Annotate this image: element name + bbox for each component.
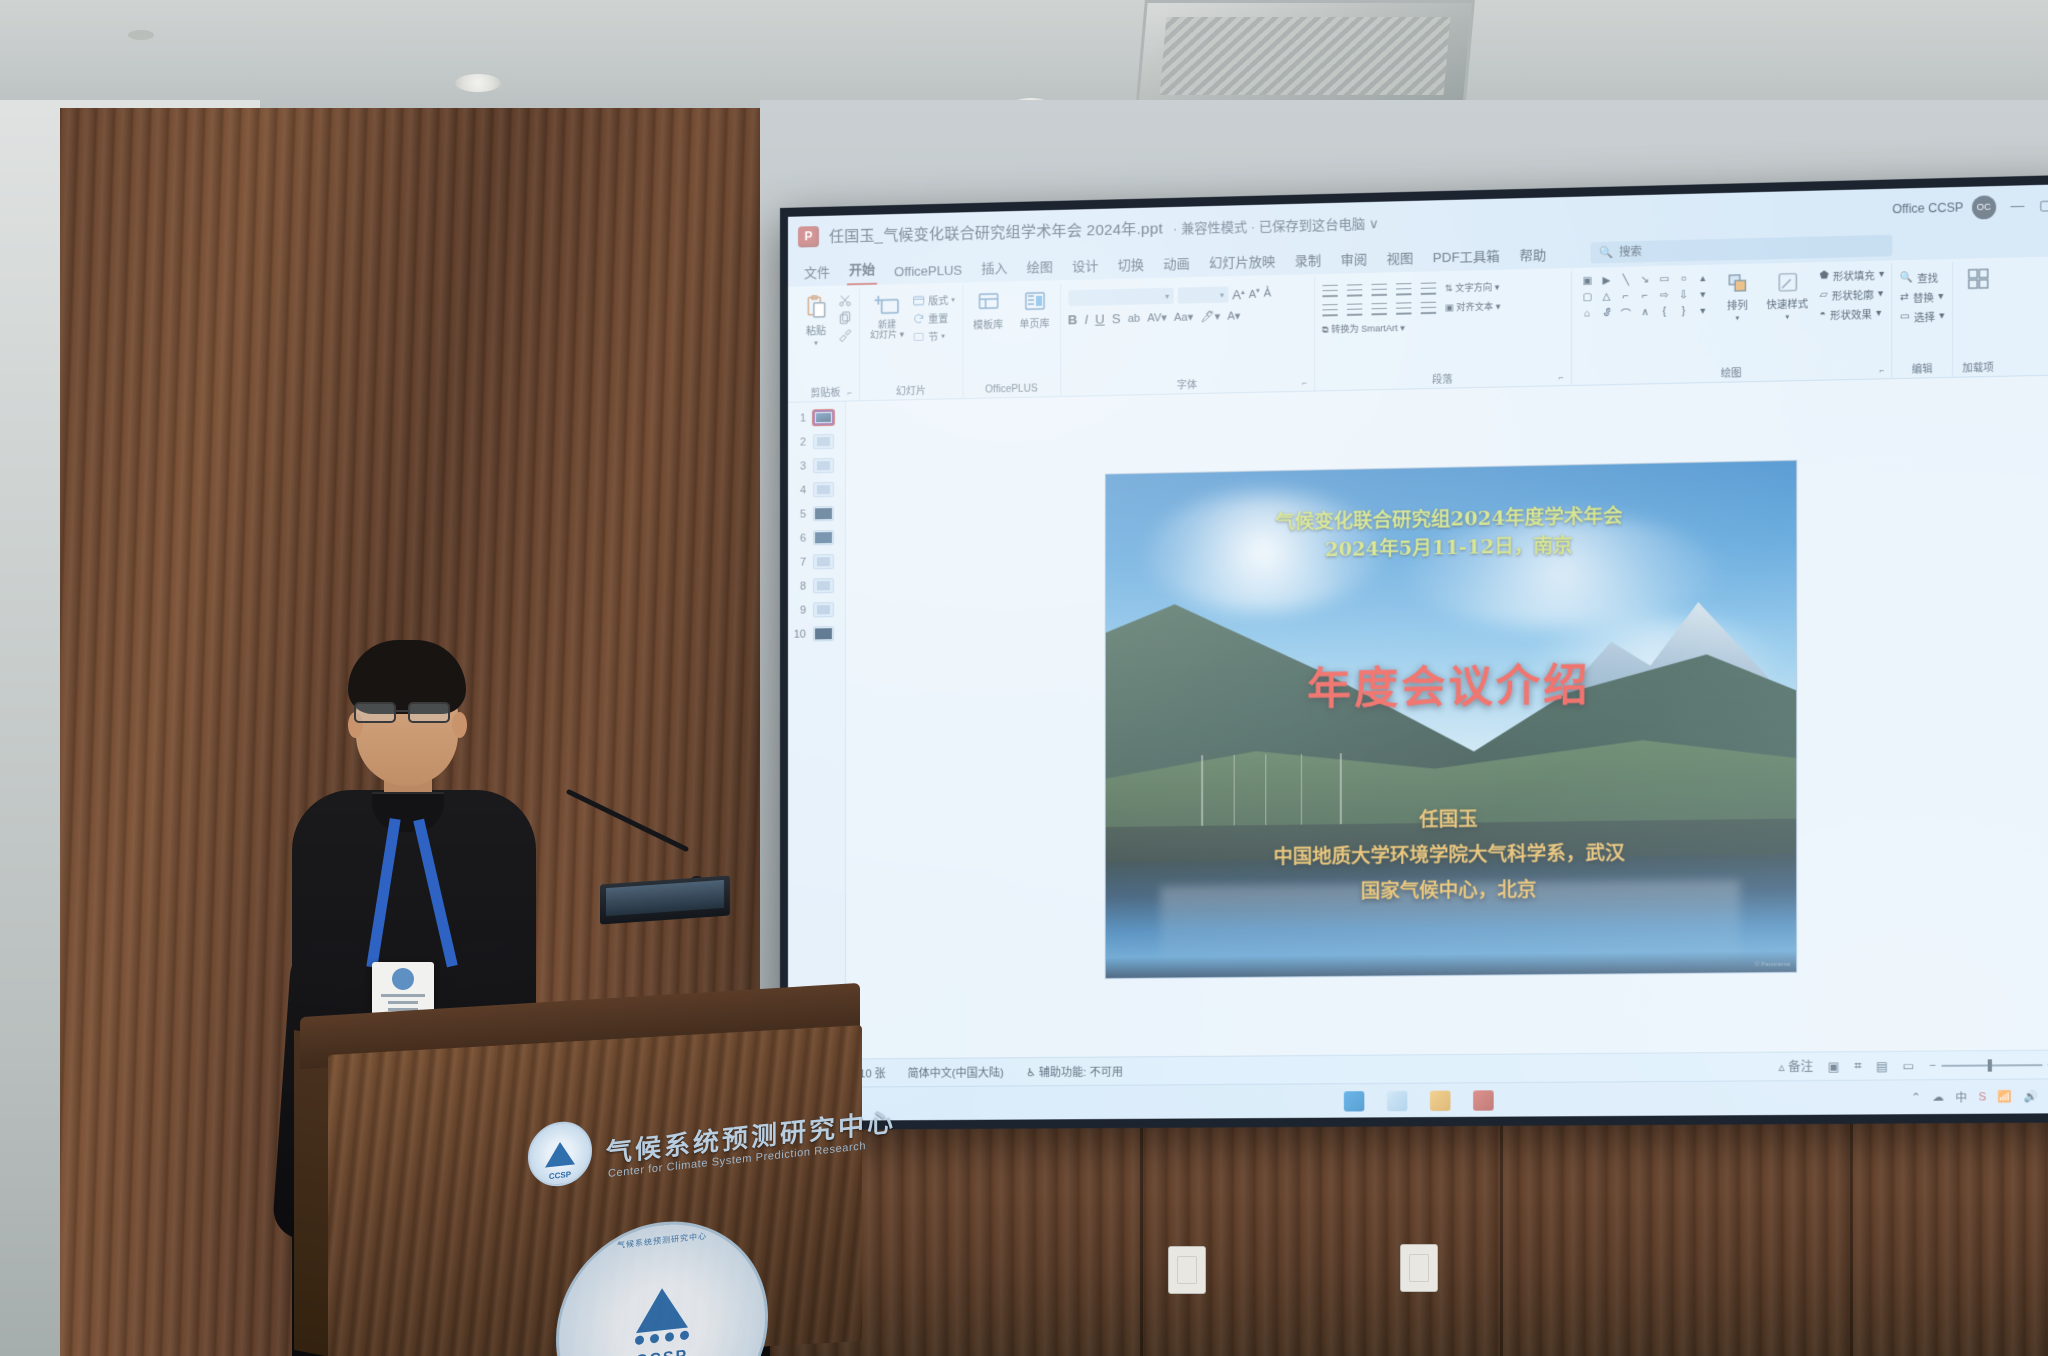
zoom-slider[interactable]: − +: [1929, 1058, 2048, 1071]
text-direction-button[interactable]: ⇅ 文字方向 ▾: [1445, 280, 1500, 294]
character-spacing-button[interactable]: AV▾: [1147, 311, 1167, 325]
increase-font-size-button[interactable]: A▴: [1232, 286, 1244, 301]
shape-outline-icon: ▱: [1820, 290, 1828, 301]
slide-sorter-icon[interactable]: ⌗: [1854, 1058, 1861, 1073]
format-painter-icon[interactable]: [838, 327, 852, 341]
columns-icon[interactable]: [1420, 301, 1435, 314]
line-spacing-icon[interactable]: [1420, 282, 1435, 295]
section-label: 节: [928, 328, 938, 343]
dialog-launcher-icon[interactable]: ⌐: [1558, 373, 1563, 382]
status-bar-right[interactable]: ▵ 备注 ▣ ⌗ ▤ ▭ − +: [1778, 1056, 2048, 1075]
ribbon-group-paragraph: ⇅ 文字方向 ▾ ▣ 对齐文本 ▾ ⧉ 转换为: [1315, 271, 1572, 390]
change-case-button[interactable]: Aa▾: [1174, 310, 1193, 324]
decrease-indent-icon[interactable]: [1371, 283, 1386, 296]
ceiling-light: [455, 74, 501, 92]
logo-triangle: [636, 1285, 688, 1333]
projection-screen: P 任国玉_气候变化联合研究组学术年会 2024年.ppt · 兼容性模式 · …: [788, 184, 2048, 1121]
slide-thumbnail-3[interactable]: 3: [788, 458, 845, 474]
accessibility-icon: ♿: [1026, 1067, 1036, 1079]
slide-thumbnail-7[interactable]: 7: [788, 554, 845, 570]
projection-screen-frame: P 任国玉_气候变化联合研究组学术年会 2024年.ppt · 兼容性模式 · …: [780, 175, 2048, 1130]
font-name-input[interactable]: ▾: [1068, 288, 1173, 307]
slide-author-block[interactable]: 任国玉 中国地质大学环境学院大气科学系，武汉 国家气候中心，北京: [1106, 798, 1796, 913]
podium-front-panel: CCSP 气候系统预测研究中心 Center for Climate Syste…: [328, 1025, 862, 1356]
replace-button[interactable]: ⇄替换▾: [1900, 289, 1945, 305]
slide-thumbnail-1[interactable]: 1: [788, 410, 845, 426]
logo-acronym: CCSP: [636, 1347, 688, 1356]
thumbnail-preview[interactable]: [813, 554, 834, 569]
shape-line-icon[interactable]: ╲: [1617, 273, 1634, 288]
document-save-state[interactable]: · 兼容性模式 · 已保存到这台电脑 ∨: [1173, 212, 1379, 236]
thumbnail-preview[interactable]: [813, 602, 834, 617]
shape-chevron-icon[interactable]: ∧: [1636, 305, 1653, 320]
layout-icon: [912, 294, 925, 306]
shape-arrow-icon[interactable]: ↘: [1636, 272, 1653, 287]
thumbnail-preview[interactable]: [813, 410, 834, 425]
slide-thumbnail-2[interactable]: 2: [788, 434, 845, 450]
template-library-label: 模板库: [973, 316, 1003, 332]
slide-thumbnail-8[interactable]: 8: [788, 578, 845, 594]
shape-textbox-icon[interactable]: ▣: [1579, 274, 1596, 289]
clear-formatting-icon[interactable]: A͛: [1264, 287, 1271, 299]
slide-thumbnail-5[interactable]: 5: [788, 506, 845, 522]
text-highlight-icon[interactable]: 🖊▾: [1200, 310, 1220, 324]
paste-button[interactable]: 粘贴 ▾: [799, 292, 833, 350]
align-right-icon[interactable]: [1371, 302, 1386, 315]
chevron-down-icon[interactable]: ▾: [941, 332, 945, 340]
dialog-launcher-icon[interactable]: ⌐: [847, 388, 852, 397]
paste-icon: [803, 294, 829, 321]
zoom-thumb[interactable]: [1987, 1059, 1991, 1071]
slide-thumbnail-4[interactable]: 4: [788, 482, 845, 498]
layout-label: 版式: [928, 292, 948, 308]
glasses-lens-right: [408, 702, 450, 723]
search-icon: 🔍: [1900, 272, 1913, 284]
logo-triangle-group: [635, 1285, 689, 1345]
ccsp-logo-large: 气候系统预测研究中心 CCSP: [556, 1211, 768, 1356]
slide-thumbnail-panel[interactable]: 1 2 3 4: [788, 402, 846, 1059]
thumbnail-number: 2: [793, 436, 806, 448]
align-text-button[interactable]: ▣ 对齐文本 ▾: [1445, 299, 1501, 313]
laptop-screen: [606, 880, 724, 916]
presenter-glasses: [352, 702, 464, 724]
dialog-launcher-icon[interactable]: ⌐: [1879, 366, 1884, 375]
ribbon-group-slides: 新建幻灯片 ▾ 版式 ▾: [860, 286, 963, 401]
search-icon: 🔍: [1599, 245, 1613, 259]
addins-button[interactable]: [1960, 264, 1996, 294]
account-area[interactable]: Office CCSP OC — ▢: [1892, 193, 2048, 221]
editing-commands[interactable]: 🔍查找 ⇄替换▾ ▭选择▾: [1900, 265, 1945, 324]
ime-icon[interactable]: 中: [1955, 1089, 1967, 1105]
new-slide-button[interactable]: 新建幻灯片 ▾: [867, 290, 907, 343]
restore-button[interactable]: ▢: [2039, 197, 2048, 214]
ceiling-air-vent: [1135, 0, 1475, 112]
shape-brace-right-icon[interactable]: }: [1675, 304, 1692, 319]
tab-view[interactable]: 视图: [1385, 245, 1416, 272]
wifi-icon[interactable]: 📶: [1998, 1090, 2012, 1103]
slideshow-icon[interactable]: ▭: [1903, 1058, 1915, 1072]
tab-officeplus[interactable]: OfficePLUS: [892, 261, 964, 285]
thumbnail-number: 6: [793, 532, 806, 544]
quick-styles-button[interactable]: 快速样式 ▾: [1763, 268, 1811, 323]
file-explorer-icon[interactable]: [1387, 1090, 1408, 1110]
windows-start-icon[interactable]: [1344, 1091, 1364, 1111]
template-library-icon: [975, 290, 1001, 315]
quick-styles-label: 快速样式: [1767, 295, 1809, 311]
smoke-detector: [128, 30, 154, 40]
shape-fill-button[interactable]: ⬟形状填充▾: [1820, 267, 1885, 284]
ribbon-group-addins: 加载项: [1953, 261, 2003, 377]
thumbnail-preview[interactable]: [813, 578, 834, 593]
shape-rect-icon[interactable]: ▭: [1656, 272, 1673, 287]
slide-thumbnail-6[interactable]: 6: [788, 530, 845, 546]
thumbnail-number: 9: [793, 604, 806, 616]
section-button[interactable]: 节 ▾: [912, 328, 955, 344]
copy-icon[interactable]: [838, 310, 852, 324]
shape-gallery-expand-icon[interactable]: ▾: [1694, 303, 1711, 318]
section-icon: [912, 330, 925, 342]
shape-ellipse-icon[interactable]: ○: [1675, 271, 1692, 286]
ribbon-group-font: ▾ ▾ A▴ A▾ A͛ B I U S ab: [1061, 277, 1315, 396]
tab-record[interactable]: 录制: [1293, 248, 1324, 275]
tab-file[interactable]: 文件: [802, 260, 832, 287]
chevron-down-icon[interactable]: ▾: [1786, 313, 1790, 321]
thumbnail-number: 8: [793, 580, 806, 592]
ribbon-group-drawing: ▣ ▶ ╲ ↘ ▭ ○ ▴ ▢ △ ⌐ ⌐ ⇨: [1572, 263, 1893, 385]
shape-effects-button[interactable]: ◓形状效果▾: [1820, 306, 1885, 323]
numbered-list-icon[interactable]: [1346, 284, 1361, 297]
badge-text-line: [381, 994, 425, 997]
select-button[interactable]: ▭选择▾: [1900, 308, 1945, 324]
sogou-icon[interactable]: S: [1978, 1091, 1986, 1103]
group-label-officeplus: OfficePLUS: [970, 381, 1053, 396]
logo-dots: [635, 1330, 689, 1345]
group-label-clipboard: 剪贴板⌐: [799, 381, 852, 399]
shape-arrowbox-icon[interactable]: ▶: [1598, 273, 1615, 288]
vent-grill: [1160, 17, 1451, 95]
cloud-icon[interactable]: ☁: [1932, 1090, 1944, 1103]
slide-thumbnail-9[interactable]: 9: [788, 602, 845, 618]
shape-brace-left-icon[interactable]: {: [1656, 304, 1673, 319]
zoom-track[interactable]: [1941, 1064, 2042, 1067]
slide-photo-credit: © Panorama: [1755, 962, 1790, 968]
logo-acronym: CCSP: [549, 1170, 571, 1181]
workspace: 1 2 3 4: [788, 375, 2048, 1059]
powerpoint-icon: P: [798, 226, 819, 248]
arrange-label: 排列: [1727, 296, 1748, 312]
ccsp-logo-small: CCSP: [528, 1118, 592, 1189]
align-center-icon[interactable]: [1346, 303, 1361, 316]
zoom-out-button[interactable]: −: [1929, 1059, 1936, 1071]
conference-room-scene: P 任国玉_气候变化联合研究组学术年会 2024年.ppt · 兼容性模式 · …: [0, 0, 2048, 1356]
new-slide-label: 新建幻灯片 ▾: [870, 320, 904, 341]
tab-insert[interactable]: 插入: [979, 255, 1009, 282]
account-name: Office CCSP: [1892, 200, 1963, 216]
chevron-down-icon[interactable]: ▾: [1736, 314, 1740, 322]
tab-transitions[interactable]: 切换: [1116, 252, 1146, 279]
wall-socket: [1400, 1244, 1438, 1292]
minimize-button[interactable]: —: [2011, 198, 2025, 215]
shape-curve-icon[interactable]: ⌐: [1636, 288, 1653, 303]
page-library-label: 单页库: [1019, 315, 1049, 331]
paste-label: 粘贴: [806, 322, 826, 337]
thumbnail-preview[interactable]: [813, 458, 834, 473]
new-slide-icon: [873, 292, 901, 319]
template-library-button[interactable]: 模板库: [970, 288, 1006, 334]
thumbnail-preview[interactable]: [813, 434, 834, 449]
wall-panel-seam: [1140, 1120, 1143, 1356]
reset-icon: [912, 312, 925, 324]
badge-logo: [392, 968, 414, 990]
justify-icon[interactable]: [1396, 302, 1411, 315]
thumbnail-preview[interactable]: [813, 626, 834, 641]
search-placeholder: 搜索: [1619, 243, 1642, 260]
folder-icon[interactable]: [1430, 1090, 1451, 1110]
shape-flowchart-icon[interactable]: ⌂: [1579, 306, 1596, 321]
thumbnail-number: 5: [793, 508, 806, 520]
italic-button[interactable]: I: [1084, 312, 1088, 327]
glasses-bridge: [396, 710, 408, 712]
windows-taskbar[interactable]: ⌃ ☁ 中 S 📶 🔊 ▮: [788, 1078, 2048, 1121]
volume-icon[interactable]: 🔊: [2024, 1090, 2038, 1103]
shape-fill-icon: ⬟: [1820, 270, 1829, 281]
find-button[interactable]: 🔍查找: [1900, 269, 1945, 285]
wall-panel-seam: [1850, 1120, 1853, 1356]
increase-indent-icon[interactable]: [1396, 283, 1411, 296]
tab-animations[interactable]: 动画: [1161, 251, 1191, 278]
thumbnail-number: 1: [793, 412, 806, 424]
bold-button[interactable]: B: [1068, 312, 1077, 327]
shape-outline-button[interactable]: ▱形状轮廓▾: [1820, 286, 1885, 303]
system-tray[interactable]: ⌃ ☁ 中 S 📶 🔊 ▮: [1911, 1088, 2048, 1105]
thumbnail-number: 3: [793, 460, 806, 472]
bullet-list-icon[interactable]: [1322, 284, 1337, 297]
layout-button[interactable]: 版式 ▾: [912, 292, 955, 308]
reset-button[interactable]: 重置: [912, 310, 955, 326]
powerpoint-icon[interactable]: [1473, 1090, 1494, 1110]
font-color-icon[interactable]: A▾: [1227, 309, 1240, 322]
page-library-button[interactable]: 单页库: [1016, 287, 1052, 333]
convert-smartart-button[interactable]: ⧉ 转换为 SmartArt ▾: [1322, 321, 1405, 336]
window-controls[interactable]: — ▢: [2004, 197, 2048, 215]
thumbnail-number: 10: [793, 628, 806, 640]
group-label-slides: 幻灯片: [867, 379, 955, 398]
tab-home[interactable]: 开始: [847, 257, 877, 286]
strikethrough-button[interactable]: ab: [1128, 312, 1140, 324]
dialog-launcher-icon[interactable]: ⌐: [1302, 379, 1307, 388]
shape-arrow-down-icon[interactable]: ⇩: [1675, 288, 1692, 303]
slide-thumbnail-10[interactable]: 10: [788, 626, 845, 642]
chevron-up-icon[interactable]: ⌃: [1911, 1091, 1921, 1104]
logo-ring-text: 气候系统预测研究中心: [617, 1230, 707, 1251]
scissors-icon[interactable]: [838, 293, 852, 307]
wall-panel-seam: [1500, 1120, 1503, 1356]
shape-effects-icon: ◓: [1820, 309, 1826, 320]
quick-styles-icon: [1775, 271, 1800, 294]
page-library-icon: [1021, 289, 1047, 314]
ribbon-group-clipboard: 粘贴 ▾: [792, 288, 860, 402]
podium: CCSP 气候系统预测研究中心 Center for Climate Syste…: [300, 1000, 880, 1356]
addins-icon: [1964, 266, 1991, 291]
shape-freeform-icon[interactable]: 𝓔: [1598, 306, 1615, 321]
reading-view-icon[interactable]: ▤: [1876, 1059, 1888, 1073]
tab-draw[interactable]: 绘图: [1025, 254, 1055, 281]
shape-square-icon[interactable]: ▢: [1579, 290, 1596, 305]
language-label[interactable]: 简体中文(中国大陆): [908, 1064, 1004, 1081]
align-left-icon[interactable]: [1322, 304, 1337, 316]
search-input[interactable]: 🔍 搜索: [1591, 234, 1893, 263]
normal-view-icon[interactable]: ▣: [1828, 1059, 1840, 1073]
notes-button[interactable]: ▵ 备注: [1778, 1058, 1813, 1076]
shapes-gallery[interactable]: ▣ ▶ ╲ ↘ ▭ ○ ▴ ▢ △ ⌐ ⌐ ⇨: [1579, 271, 1712, 321]
slide-affiliation-2: 国家气候中心，北京: [1106, 870, 1796, 913]
replace-icon: ⇄: [1900, 292, 1909, 303]
current-slide[interactable]: 气候变化联合研究组2024年度学术年会 2024年5月11-12日，南京 年度会…: [1106, 461, 1796, 978]
arrange-icon: [1725, 272, 1750, 295]
glasses-lens-left: [354, 702, 396, 723]
shape-arrow-right-icon[interactable]: ⇨: [1656, 288, 1673, 303]
chevron-down-icon[interactable]: ▾: [951, 295, 955, 303]
shape-elbow-icon[interactable]: ⌐: [1617, 289, 1634, 304]
select-icon: ▭: [1900, 311, 1910, 322]
thumbnail-preview[interactable]: [813, 530, 834, 545]
tab-review[interactable]: 审阅: [1339, 247, 1370, 274]
shape-format-commands[interactable]: ⬟形状填充▾ ▱形状轮廓▾ ◓形状效果▾: [1820, 267, 1885, 323]
thumbnail-number: 4: [793, 484, 806, 496]
shadow-button[interactable]: S: [1112, 311, 1121, 326]
wall-socket: [1168, 1246, 1206, 1294]
shape-more-icon[interactable]: ▴: [1694, 271, 1711, 286]
tab-help[interactable]: 帮助: [1517, 242, 1548, 269]
document-title: 任国玉_气候变化联合研究组学术年会 2024年.ppt: [829, 217, 1163, 246]
tab-pdf-toolbox[interactable]: PDF工具箱: [1431, 243, 1502, 271]
font-size-input[interactable]: ▾: [1177, 286, 1228, 303]
tab-slideshow[interactable]: 幻灯片放映: [1207, 249, 1277, 277]
group-label-addins: 加载项: [1960, 356, 1996, 374]
thumbnail-preview[interactable]: [813, 482, 834, 497]
slide-editing-stage[interactable]: 气候变化联合研究组2024年度学术年会 2024年5月11-12日，南京 年度会…: [846, 375, 2048, 1058]
chevron-down-icon[interactable]: ▾: [814, 339, 818, 347]
arrange-button[interactable]: 排列 ▾: [1720, 270, 1755, 325]
ribbon-group-editing: 🔍查找 ⇄替换▾ ▭选择▾ 编辑: [1893, 262, 1953, 378]
decrease-font-size-button[interactable]: A▾: [1249, 287, 1260, 301]
thumbnail-number: 7: [793, 556, 806, 568]
underline-button[interactable]: U: [1095, 311, 1105, 326]
avatar[interactable]: OC: [1972, 195, 1996, 219]
group-label-editing: 编辑: [1900, 358, 1945, 376]
slide-title-text[interactable]: 年度会议介绍: [1106, 647, 1796, 720]
tab-design[interactable]: 设计: [1070, 253, 1100, 280]
logo-triangle: [545, 1140, 575, 1167]
reset-label: 重置: [928, 310, 948, 326]
font-format-row[interactable]: B I U S ab AV▾ Aa▾ 🖊▾ A▾: [1068, 308, 1241, 327]
wood-wall-right: [770, 1120, 2048, 1356]
ribbon-group-officeplus: 模板库 单页库 OfficePLUS: [963, 283, 1061, 398]
thumbnail-preview[interactable]: [813, 506, 834, 521]
shape-scroll-down-icon[interactable]: ▾: [1694, 287, 1711, 302]
shape-triangle-icon[interactable]: △: [1598, 289, 1615, 304]
powerpoint-window: P 任国玉_气候变化联合研究组学术年会 2024年.ppt · 兼容性模式 · …: [788, 184, 2048, 1121]
accessibility-label[interactable]: ♿ 辅助功能: 不可用: [1026, 1063, 1123, 1080]
shape-arc-icon[interactable]: ⌒: [1617, 305, 1634, 320]
